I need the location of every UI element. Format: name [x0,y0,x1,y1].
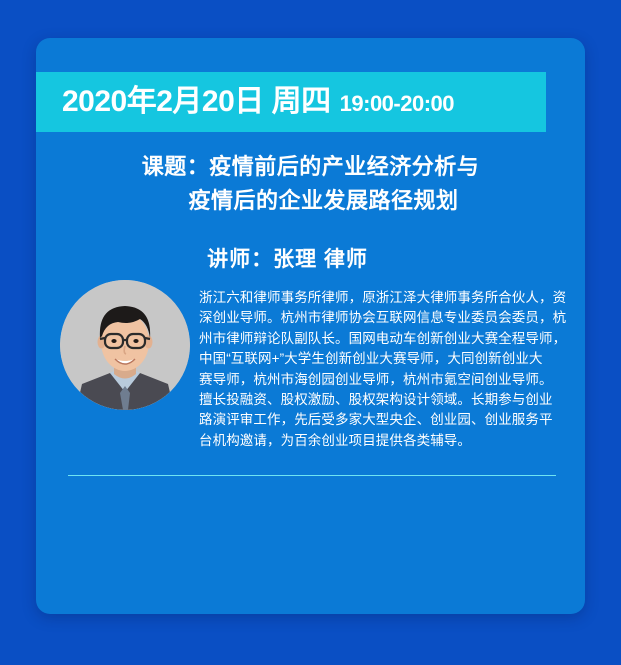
topic-title-line-1: 课题：疫情前后的产业经济分析与 [36,150,585,184]
bio-line: 浙江六和律师事务所律师，原浙江泽大律师事务所合伙人，资 [199,288,559,308]
topic-title-line-2: 疫情后的企业发展路径规划 [36,184,585,218]
bio-line: 擅长投融资、股权激励、股权架构设计领域。长期参与创业 [199,390,559,410]
bio-line: 中国“互联网+”大学生创新创业大赛导师，大同创新创业大 [199,349,559,369]
poster-background: 2020年2月20日 周四 19:00-20:00 课题：疫情前后的产业经济分析… [0,0,621,665]
bio-line: 深创业导师。杭州市律师协会互联网信息专业委员会委员，杭 [199,308,559,328]
event-time: 19:00-20:00 [340,93,454,115]
topic-title: 课题：疫情前后的产业经济分析与 疫情后的企业发展路径规划 [36,150,585,218]
speaker-bio: 浙江六和律师事务所律师，原浙江泽大律师事务所合伙人，资 深创业导师。杭州市律师协… [199,288,559,451]
event-date: 2020年2月20日 周四 [62,87,331,117]
speaker-portrait-icon [60,280,190,410]
bio-line: 赛导师，杭州市海创园创业导师，杭州市氪空间创业导师。 [199,370,559,390]
speaker-name: 讲师：张理 律师 [36,243,585,273]
bio-line: 台机构邀请，为百余创业项目提供各类辅导。 [199,431,559,451]
section-divider [68,475,556,476]
bio-line: 路演评审工作，先后受多家大型央企、创业园、创业服务平 [199,410,559,430]
bio-line: 州市律师辩论队副队长。国网电动车创新创业大赛全程导师， [199,329,559,349]
avatar [60,280,190,410]
date-banner: 2020年2月20日 周四 19:00-20:00 [36,72,546,132]
event-card: 2020年2月20日 周四 19:00-20:00 课题：疫情前后的产业经济分析… [36,38,585,614]
